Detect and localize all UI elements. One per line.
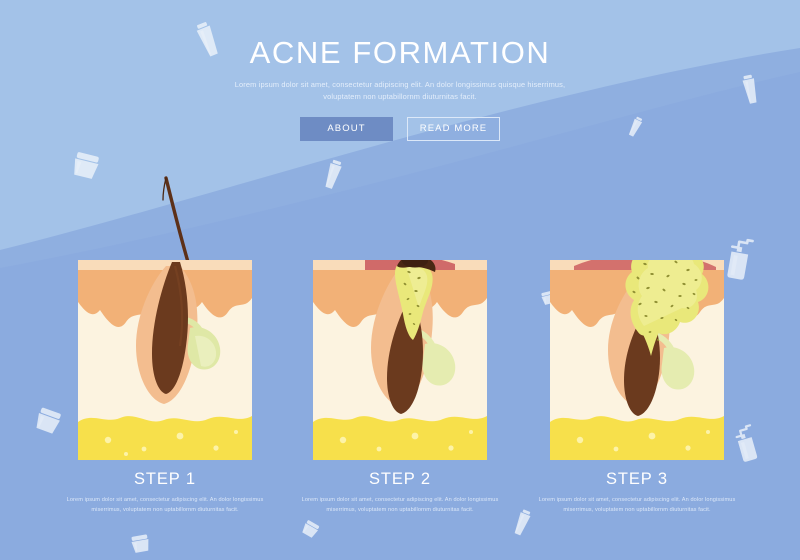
page-title: ACNE FORMATION [0,36,800,70]
step-3-caption: Lorem ipsum dolor sit amet, consectetur … [531,496,743,516]
steps-row: STEP 1 Lorem ipsum dolor sit amet, conse… [0,236,800,536]
cosmetic-jar [128,532,154,560]
skin-diagram-step-3 [512,236,762,468]
step-1-caption: Lorem ipsum dolor sit amet, consectetur … [59,496,271,516]
step-2-title: STEP 2 [275,470,525,489]
header-button-row: ABOUT READ MORE [0,117,800,141]
step-2: STEP 2 Lorem ipsum dolor sit amet, conse… [275,236,525,516]
read-more-button[interactable]: READ MORE [407,117,500,141]
header: ACNE FORMATION Lorem ipsum dolor sit ame… [0,36,800,141]
skin-diagram-step-1 [40,236,290,468]
acne-formation-infographic: ACNE FORMATION Lorem ipsum dolor sit ame… [0,0,800,560]
header-subtitle: Lorem ipsum dolor sit amet, consectetur … [228,79,573,103]
about-button[interactable]: ABOUT [300,117,393,141]
step-3: STEP 3 Lorem ipsum dolor sit amet, conse… [512,236,762,516]
step-2-caption: Lorem ipsum dolor sit amet, consectetur … [294,496,506,516]
skin-diagram-step-2 [275,236,525,468]
step-3-title: STEP 3 [512,470,762,489]
step-1-title: STEP 1 [40,470,290,489]
step-1: STEP 1 Lorem ipsum dolor sit amet, conse… [40,236,290,516]
